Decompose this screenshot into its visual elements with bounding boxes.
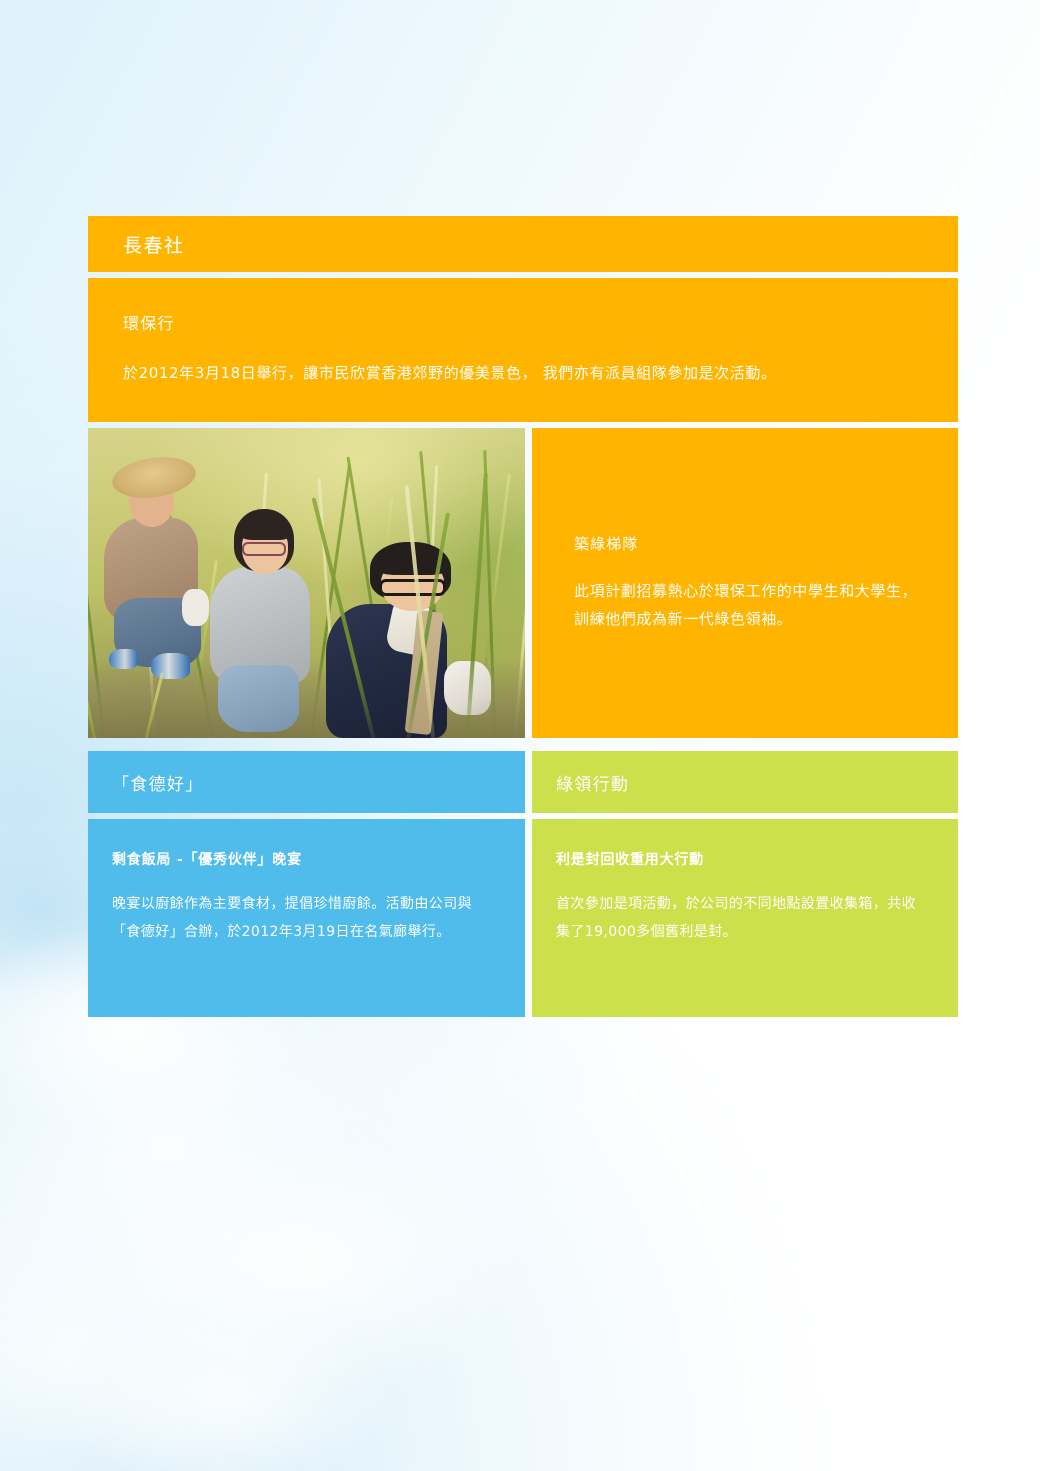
photo-and-programme-row: 築綠梯隊 此項計劃招募熱心於環保工作的中學生和大學生，訓練他們成為新一代綠色領袖… <box>88 428 958 738</box>
divider-gap-3 <box>88 738 958 751</box>
partner-cards-row: 「食德好」 剩食飯局 -「優秀伙伴」晚宴 晚宴以廚餘作為主要食材，提倡珍惜廚餘。… <box>88 751 958 1017</box>
organisation-title-bar: 長春社 <box>88 216 958 272</box>
card-food-grace-org-title: 「食德好」 <box>112 770 204 795</box>
card-food-grace-body: 剩食飯局 -「優秀伙伴」晚宴 晚宴以廚餘作為主要食材，提倡珍惜廚餘。活動由公司與… <box>88 819 525 1017</box>
volunteer-c-glasses <box>379 579 445 596</box>
volunteer-a-glove <box>182 589 208 626</box>
volunteer-photo <box>88 428 525 738</box>
card-food-grace: 「食德好」 剩食飯局 -「優秀伙伴」晚宴 晚宴以廚餘作為主要食材，提倡珍惜廚餘。… <box>88 751 525 1017</box>
straw-hat <box>109 453 197 503</box>
volunteer-c-fringe <box>376 556 449 575</box>
programme-text-cell: 築綠梯隊 此項計劃招募熱心於環保工作的中學生和大學生，訓練他們成為新一代綠色領袖… <box>532 428 958 738</box>
white-work-glove <box>444 661 492 715</box>
card-greeners-action-header: 綠領行動 <box>532 751 958 813</box>
programme-heading: 築綠梯隊 <box>574 533 920 554</box>
card-greeners-action-org-title: 綠領行動 <box>556 770 629 795</box>
programme-body-text: 此項計劃招募熱心於環保工作的中學生和大學生，訓練他們成為新一代綠色領袖。 <box>574 578 920 634</box>
card-greeners-action-item-title: 利是封回收重用大行動 <box>556 849 928 869</box>
content-sheet: 長春社 環保行 於2012年3月18日舉行，讓市民欣賞香港郊野的優美景色， 我們… <box>88 216 958 1017</box>
volunteer-b-glasses <box>242 542 287 555</box>
volunteer-a-shoe-right <box>151 653 190 678</box>
card-food-grace-header: 「食德好」 <box>88 751 525 813</box>
photo-illustration <box>88 428 525 738</box>
volunteer-b-fringe <box>239 520 291 540</box>
card-greeners-action-body: 利是封回收重用大行動 首次參加是項活動，於公司的不同地點設置收集箱，共收集了19… <box>532 819 958 1017</box>
intro-body-text: 於2012年3月18日舉行，讓市民欣賞香港郊野的優美景色， 我們亦有派員組隊參加… <box>123 360 923 386</box>
card-food-grace-item-body: 晚宴以廚餘作為主要食材，提倡珍惜廚餘。活動由公司與「食德好」合辦，於2012年3… <box>112 891 495 946</box>
volunteer-in-navy-jacket <box>315 546 499 738</box>
volunteer-b-jeans <box>218 665 299 732</box>
organisation-name: 長春社 <box>123 231 185 258</box>
volunteer-a-shoe-left <box>109 649 138 670</box>
card-food-grace-item-title: 剩食飯局 -「優秀伙伴」晚宴 <box>112 849 495 869</box>
intro-block: 環保行 於2012年3月18日舉行，讓市民欣賞香港郊野的優美景色， 我們亦有派員… <box>88 278 958 422</box>
card-greeners-action-item-body: 首次參加是項活動，於公司的不同地點設置收集箱，共收集了19,000多個舊利是封。 <box>556 891 928 946</box>
intro-heading: 環保行 <box>123 310 923 334</box>
card-greeners-action: 綠領行動 利是封回收重用大行動 首次參加是項活動，於公司的不同地點設置收集箱，共… <box>532 751 958 1017</box>
